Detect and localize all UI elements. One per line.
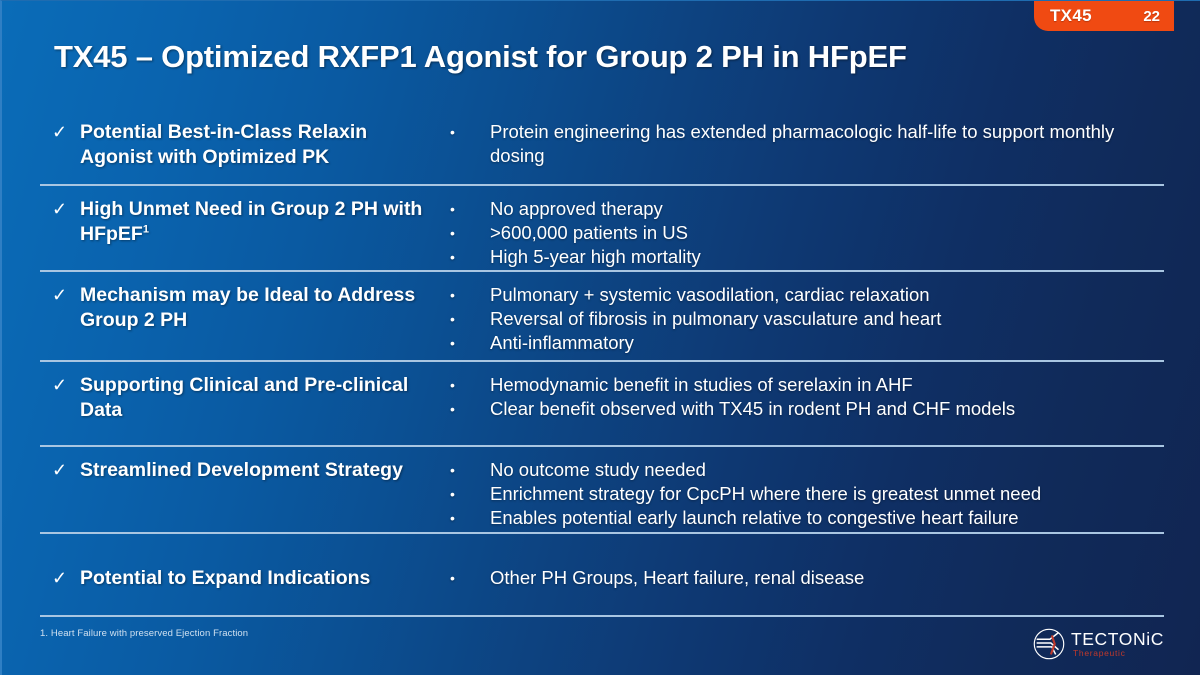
footnote-marker: 1: [143, 224, 149, 236]
row-heading-text: Mechanism may be Ideal to Address Group …: [80, 284, 415, 331]
bullet-text: Other PH Groups, Heart failure, renal di…: [490, 566, 1164, 590]
bullet-icon: •: [446, 197, 490, 221]
logo-tagline: Therapeutic: [1071, 648, 1164, 659]
row-heading: Mechanism may be Ideal to Address Group …: [76, 283, 440, 333]
list-item: • No outcome study needed: [446, 458, 1164, 482]
row-heading-text: Supporting Clinical and Pre-clinical Dat…: [80, 374, 408, 421]
row-heading-text: Streamlined Development Strategy: [80, 459, 403, 481]
list-item: • High 5-year high mortality: [446, 245, 1164, 269]
row-heading-cell: ✓ Mechanism may be Ideal to Address Grou…: [40, 272, 440, 333]
bullet-icon: •: [446, 331, 490, 355]
bullet-text: No approved therapy: [490, 197, 1164, 221]
page-title: TX45 – Optimized RXFP1 Agonist for Group…: [54, 39, 907, 75]
check-icon: ✓: [40, 120, 76, 145]
row-bullets-cell: • No approved therapy • >600,000 patient…: [440, 186, 1164, 269]
table-row: ✓ High Unmet Need in Group 2 PH with HFp…: [40, 186, 1164, 272]
content-table: ✓ Potential Best-in-Class Relaxin Agonis…: [40, 109, 1164, 617]
row-heading-cell: ✓ Supporting Clinical and Pre-clinical D…: [40, 362, 440, 423]
bullet-text: Anti-inflammatory: [490, 331, 1164, 355]
bullet-text: Hemodynamic benefit in studies of serela…: [490, 373, 1164, 397]
list-item: • Reversal of fibrosis in pulmonary vasc…: [446, 307, 1164, 331]
list-item: • Clear benefit observed with TX45 in ro…: [446, 397, 1164, 421]
row-heading-cell: ✓ Potential Best-in-Class Relaxin Agonis…: [40, 109, 440, 170]
check-icon: ✓: [40, 373, 76, 398]
page-number: 22: [1143, 8, 1160, 25]
logo-text: TECTONiC Therapeutic: [1068, 630, 1164, 659]
list-item: • Enrichment strategy for CpcPH where th…: [446, 482, 1164, 506]
bullet-text: >600,000 patients in US: [490, 221, 1164, 245]
bullet-icon: •: [446, 245, 490, 269]
check-icon: ✓: [40, 283, 76, 308]
bullet-icon: •: [446, 120, 490, 144]
row-heading: High Unmet Need in Group 2 PH with HFpEF…: [76, 197, 440, 247]
list-item: • Other PH Groups, Heart failure, renal …: [446, 566, 1164, 590]
bullet-icon: •: [446, 458, 490, 482]
bullet-icon: •: [446, 307, 490, 331]
bullet-text: Pulmonary + systemic vasodilation, cardi…: [490, 283, 1164, 307]
row-bullets-cell: • Other PH Groups, Heart failure, renal …: [440, 534, 1164, 590]
bullet-text: Protein engineering has extended pharmac…: [490, 120, 1164, 168]
table-row: ✓ Potential Best-in-Class Relaxin Agonis…: [40, 109, 1164, 186]
row-heading-cell: ✓ Potential to Expand Indications: [40, 534, 440, 591]
check-icon: ✓: [40, 566, 76, 591]
row-heading: Potential to Expand Indications: [76, 566, 370, 591]
row-heading-cell: ✓ Streamlined Development Strategy: [40, 447, 440, 483]
bullet-text: No outcome study needed: [490, 458, 1164, 482]
bullet-icon: •: [446, 283, 490, 307]
list-item: • Enables potential early launch relativ…: [446, 506, 1164, 530]
list-item: • Protein engineering has extended pharm…: [446, 120, 1164, 168]
list-item: • Hemodynamic benefit in studies of sere…: [446, 373, 1164, 397]
check-icon: ✓: [40, 458, 76, 483]
row-bullets-cell: • Pulmonary + systemic vasodilation, car…: [440, 272, 1164, 355]
bullet-text: Reversal of fibrosis in pulmonary vascul…: [490, 307, 1164, 331]
bullet-icon: •: [446, 373, 490, 397]
list-item: • >600,000 patients in US: [446, 221, 1164, 245]
bullet-text: Enables potential early launch relative …: [490, 506, 1164, 530]
table-row: ✓ Supporting Clinical and Pre-clinical D…: [40, 362, 1164, 447]
check-icon: ✓: [40, 197, 76, 222]
tectonic-mark-icon: [1030, 625, 1068, 663]
row-heading-cell: ✓ High Unmet Need in Group 2 PH with HFp…: [40, 186, 440, 247]
bullet-text: Clear benefit observed with TX45 in rode…: [490, 397, 1164, 421]
table-row: ✓ Streamlined Development Strategy • No …: [40, 447, 1164, 534]
bullet-icon: •: [446, 221, 490, 245]
bullet-text: High 5-year high mortality: [490, 245, 1164, 269]
bullet-icon: •: [446, 482, 490, 506]
company-logo: TECTONiC Therapeutic: [1030, 621, 1180, 667]
row-bullets-cell: • Protein engineering has extended pharm…: [440, 109, 1164, 168]
table-row: ✓ Mechanism may be Ideal to Address Grou…: [40, 272, 1164, 362]
bullet-icon: •: [446, 566, 490, 590]
footnote: 1. Heart Failure with preserved Ejection…: [40, 628, 248, 639]
logo-name: TECTONiC: [1071, 630, 1164, 648]
row-heading: Supporting Clinical and Pre-clinical Dat…: [76, 373, 440, 423]
slide: TX45 22 TX45 – Optimized RXFP1 Agonist f…: [0, 0, 1200, 675]
row-heading-text: High Unmet Need in Group 2 PH with HFpEF: [80, 198, 422, 245]
row-bullets-cell: • Hemodynamic benefit in studies of sere…: [440, 362, 1164, 421]
bullet-icon: •: [446, 506, 490, 530]
row-bullets-cell: • No outcome study needed • Enrichment s…: [440, 447, 1164, 530]
row-heading: Streamlined Development Strategy: [76, 458, 403, 483]
page-tab: TX45 22: [1034, 1, 1174, 31]
list-item: • Anti-inflammatory: [446, 331, 1164, 355]
row-heading-text: Potential to Expand Indications: [80, 567, 370, 589]
row-heading-text: Potential Best-in-Class Relaxin Agonist …: [80, 121, 367, 168]
list-item: • Pulmonary + systemic vasodilation, car…: [446, 283, 1164, 307]
row-heading: Potential Best-in-Class Relaxin Agonist …: [76, 120, 440, 170]
page-tab-label: TX45: [1050, 6, 1092, 26]
bullet-icon: •: [446, 397, 490, 421]
table-row: ✓ Potential to Expand Indications • Othe…: [40, 534, 1164, 617]
list-item: • No approved therapy: [446, 197, 1164, 221]
bullet-text: Enrichment strategy for CpcPH where ther…: [490, 482, 1164, 506]
